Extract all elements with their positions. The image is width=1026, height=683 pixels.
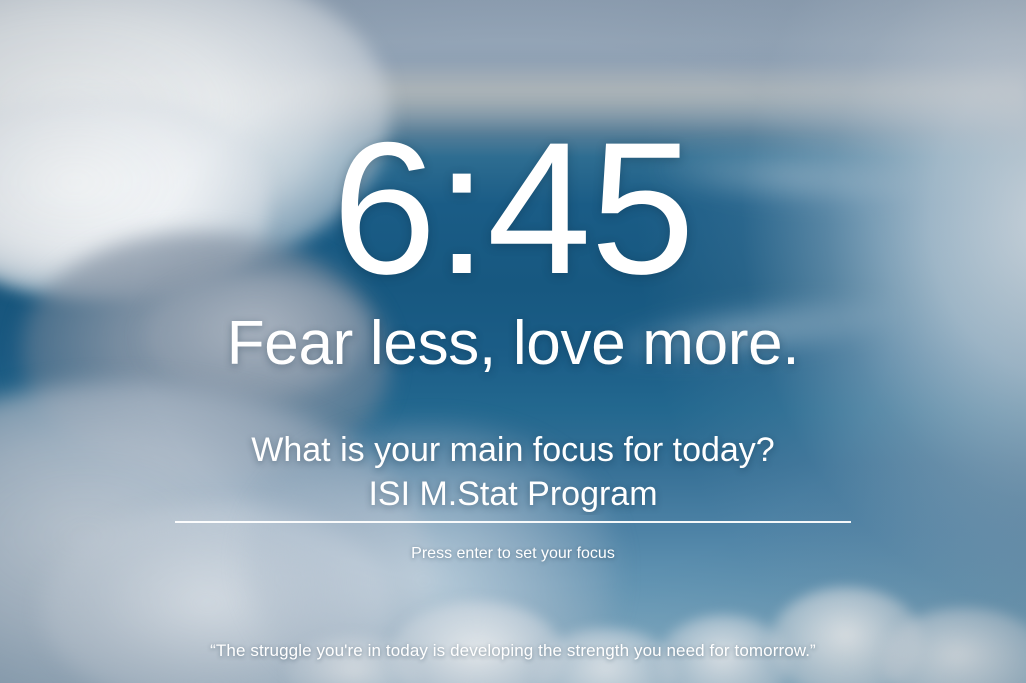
greeting-message: Fear less, love more. bbox=[227, 312, 800, 376]
new-tab-dashboard: 6:45 Fear less, love more. What is your … bbox=[0, 0, 1026, 683]
focus-section: What is your main focus for today? Press… bbox=[175, 430, 851, 563]
focus-input[interactable] bbox=[175, 474, 851, 523]
inspirational-quote: “The struggle you're in today is develop… bbox=[0, 641, 1026, 661]
focus-hint-text: Press enter to set your focus bbox=[411, 545, 615, 563]
clock-time: 6:45 bbox=[332, 128, 694, 290]
focus-question-label: What is your main focus for today? bbox=[251, 430, 774, 471]
